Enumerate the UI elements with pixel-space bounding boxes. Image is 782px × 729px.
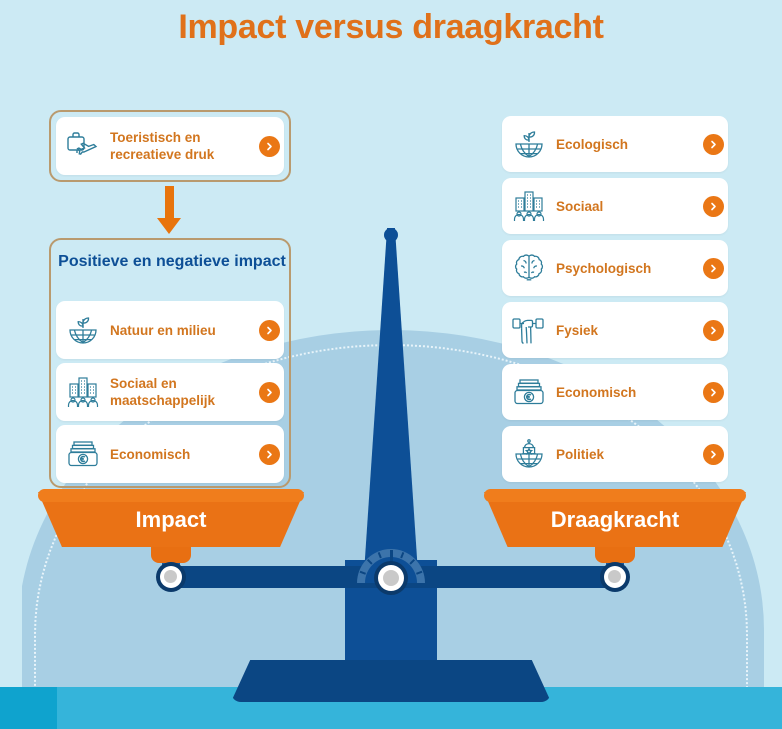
card-economisch-impact[interactable]: Economisch (56, 425, 284, 483)
pan-stem-left (151, 545, 191, 563)
card-chevron-button[interactable] (254, 381, 284, 403)
card-label: Sociaal en maatschappelijk (110, 375, 254, 409)
chevron-right-icon[interactable] (703, 320, 724, 341)
flow-arrow-head-icon (157, 218, 181, 234)
background-left-notch (0, 330, 22, 687)
scale-pan-right-rim (484, 489, 746, 502)
scale-pan-left-label: Impact (38, 507, 304, 533)
suitcase-airplane-icon (56, 131, 110, 161)
city-people-icon (502, 190, 556, 222)
chevron-right-icon[interactable] (703, 258, 724, 279)
card-label: Toeristisch en recreatieve druk (110, 129, 254, 163)
card-psychologisch[interactable]: Psychologisch (502, 240, 728, 296)
chevron-right-icon[interactable] (259, 320, 280, 341)
scale-base (231, 660, 551, 702)
group-heading: Positieve en negatieve impact (51, 251, 293, 272)
pan-joint-right-core (608, 570, 621, 583)
chevron-right-icon[interactable] (703, 444, 724, 465)
scale-pillar-tip (384, 228, 398, 242)
card-sociaal[interactable]: Sociaal (502, 178, 728, 234)
card-economisch[interactable]: Economisch (502, 364, 728, 420)
government-globe-icon (502, 438, 556, 470)
card-label: Sociaal (556, 198, 698, 215)
card-chevron-button[interactable] (698, 133, 728, 155)
background-floor-accent (0, 687, 57, 729)
card-label: Economisch (556, 384, 698, 401)
card-chevron-button[interactable] (698, 443, 728, 465)
plant-globe-icon (56, 314, 110, 346)
chevron-right-icon[interactable] (259, 136, 280, 157)
card-label: Fysiek (556, 322, 698, 339)
card-label: Economisch (110, 446, 254, 463)
card-chevron-button[interactable] (254, 319, 284, 341)
brain-icon (502, 252, 556, 284)
flow-arrow-stem (165, 186, 174, 222)
chevron-right-icon[interactable] (703, 196, 724, 217)
card-toeristisch-en-recreatieve-druk[interactable]: Toeristisch en recreatieve druk (56, 117, 284, 175)
card-chevron-button[interactable] (698, 319, 728, 341)
chevron-right-icon[interactable] (703, 382, 724, 403)
card-ecologisch[interactable]: Ecologisch (502, 116, 728, 172)
card-chevron-button[interactable] (254, 443, 284, 465)
chevron-right-icon[interactable] (259, 444, 280, 465)
plant-globe-icon (502, 128, 556, 160)
money-euro-icon (502, 377, 556, 407)
card-chevron-button[interactable] (698, 381, 728, 403)
card-natuur-en-milieu[interactable]: Natuur en milieu (56, 301, 284, 359)
card-chevron-button[interactable] (698, 195, 728, 217)
card-label: Natuur en milieu (110, 322, 254, 339)
card-fysiek[interactable]: Fysiek (502, 302, 728, 358)
scale-pan-right-label: Draagkracht (484, 507, 746, 533)
chevron-right-icon[interactable] (259, 382, 280, 403)
pan-stem-right (595, 545, 635, 563)
chevron-right-icon[interactable] (703, 134, 724, 155)
page-title: Impact versus draagkracht (0, 8, 782, 47)
scale-pan-left-rim (38, 489, 304, 502)
scale-center-pivot-core (383, 570, 399, 586)
infographic-canvas: Impact versus draagkracht Impact Draagkr… (0, 0, 782, 729)
pan-joint-left-core (164, 570, 177, 583)
city-people-icon (56, 376, 110, 408)
money-euro-icon (56, 439, 110, 469)
card-label: Politiek (556, 446, 698, 463)
card-chevron-button[interactable] (254, 135, 284, 157)
hand-dumbbell-icon (502, 315, 556, 345)
card-chevron-button[interactable] (698, 257, 728, 279)
card-politiek[interactable]: Politiek (502, 426, 728, 482)
card-label: Psychologisch (556, 260, 698, 277)
card-sociaal-en-maatschappelijk[interactable]: Sociaal en maatschappelijk (56, 363, 284, 421)
card-label: Ecologisch (556, 136, 698, 153)
